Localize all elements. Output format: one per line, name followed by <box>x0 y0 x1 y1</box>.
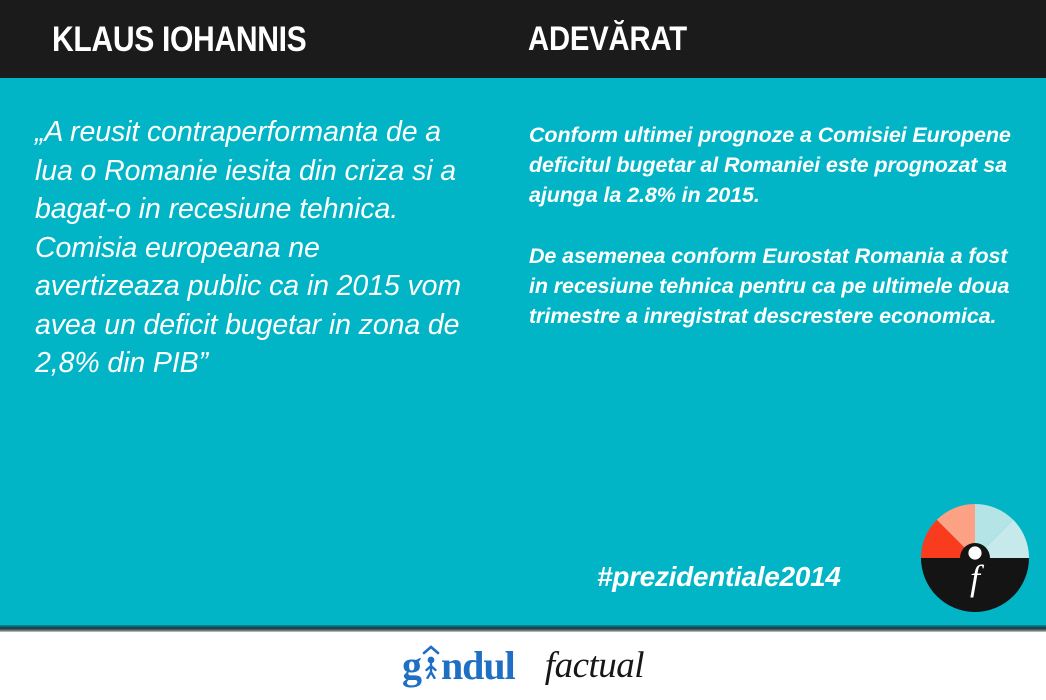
gandul-thinker-icon <box>421 644 441 678</box>
claim-column: „A reusit contraperformanta de a lua o R… <box>35 113 465 383</box>
page-title: KLAUS IOHANNIS <box>52 20 306 60</box>
panel-divider <box>0 625 1046 632</box>
verification-paragraph: Conform ultimei prognoze a Comisiei Euro… <box>529 120 1029 210</box>
verification-column: Conform ultimei prognoze a Comisiei Euro… <box>529 120 1029 331</box>
gandul-text-after: ndul <box>441 644 515 688</box>
fact-check-card: KLAUS IOHANNIS ADEVĂRAT „A reusit contra… <box>0 0 1046 700</box>
claim-quote: „A reusit contraperformanta de a lua o R… <box>35 113 465 383</box>
verification-paragraph: De asemenea conform Eurostat Romania a f… <box>529 241 1029 331</box>
gandul-logo[interactable]: g ndul <box>402 644 515 688</box>
header-bar: KLAUS IOHANNIS ADEVĂRAT <box>0 0 1046 78</box>
campaign-hashtag: #prezidentiale2014 <box>597 561 841 593</box>
verdict-badge: ADEVĂRAT <box>528 19 687 59</box>
factual-logo[interactable]: factual <box>545 644 644 688</box>
pinwheel-icon: f <box>921 504 1029 612</box>
gandul-text-before: g <box>402 644 421 688</box>
factual-pinwheel-logo: f <box>921 504 1029 612</box>
footer-bar: g ndul factual <box>0 632 1046 700</box>
